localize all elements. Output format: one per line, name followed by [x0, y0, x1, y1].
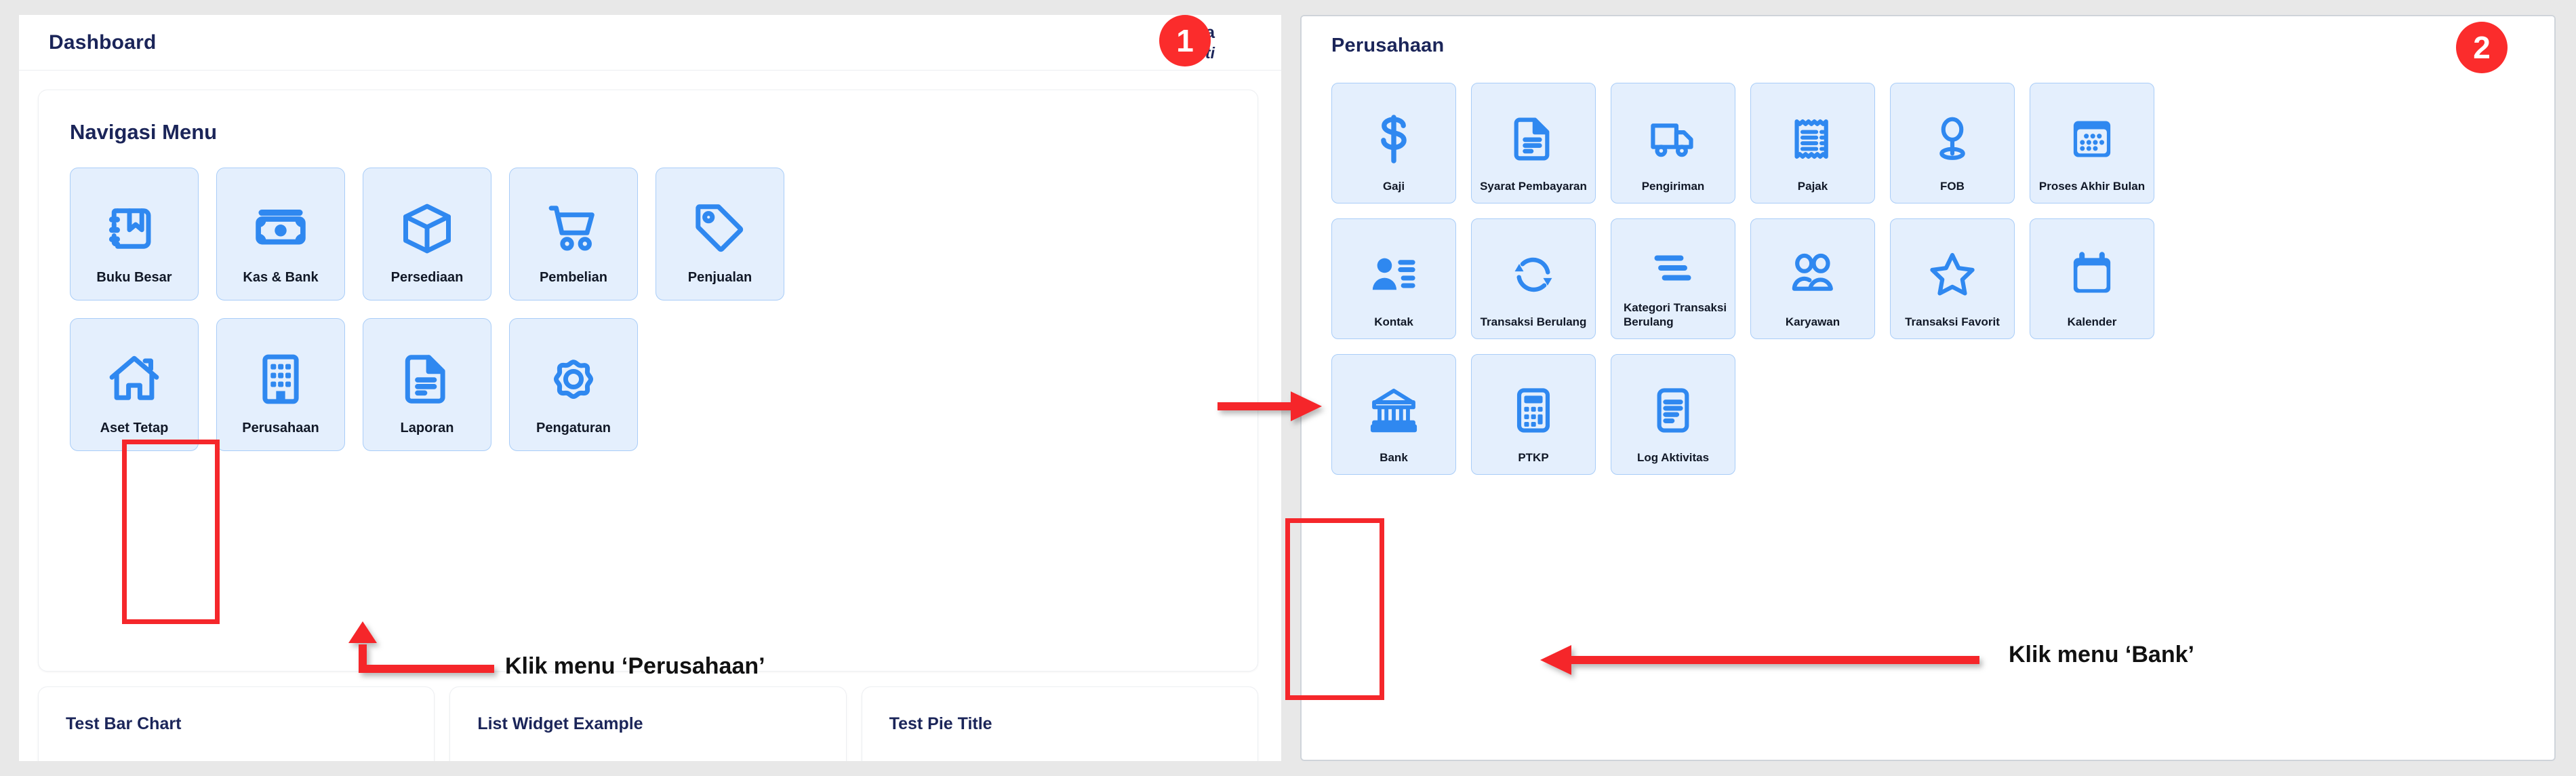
perusahaan-row-1: Gaji Syarat Pembayaran	[1331, 83, 2524, 203]
menu-tile-label: Laporan	[369, 420, 485, 437]
perusahaan-tile-syarat-pembayaran[interactable]: Syarat Pembayaran	[1471, 83, 1596, 203]
gear-icon	[545, 338, 602, 420]
menu-tile-label: Kas & Bank	[222, 269, 339, 286]
perusahaan-tile-label: Transaksi Berulang	[1476, 315, 1591, 329]
perusahaan-tile-label: FOB	[1895, 179, 2010, 193]
widget-bar-chart: Test Bar Chart	[38, 686, 435, 761]
dashboard-header: Dashboard Indra Testi	[19, 15, 1281, 71]
document-report-icon	[399, 338, 456, 420]
menu-tile-buku-besar[interactable]: Buku Besar	[70, 168, 199, 300]
perusahaan-tile-label: PTKP	[1476, 450, 1591, 465]
perusahaan-tile-label: Bank	[1336, 450, 1451, 465]
step-badge-2: 2	[2456, 22, 2508, 73]
calendar-dots-icon	[2067, 100, 2117, 179]
perusahaan-tile-log-aktivitas[interactable]: Log Aktivitas	[1611, 354, 1735, 475]
perusahaan-tile-kalender[interactable]: Kalender	[2030, 218, 2154, 339]
perusahaan-tile-label: Transaksi Favorit	[1895, 315, 2010, 329]
perusahaan-tile-gaji[interactable]: Gaji	[1331, 83, 1456, 203]
office-building-icon	[252, 338, 309, 420]
users-group-icon	[1788, 235, 1838, 315]
menu-tile-pembelian[interactable]: Pembelian	[509, 168, 638, 300]
perusahaan-tile-proses-akhir-bulan[interactable]: Proses Akhir Bulan	[2030, 83, 2154, 203]
ledger-book-icon	[106, 187, 163, 269]
perusahaan-tile-label: Pengiriman	[1615, 179, 1731, 193]
menu-tile-laporan[interactable]: Laporan	[363, 318, 491, 451]
callout-label-perusahaan: Klik menu ‘Perusahaan’	[505, 653, 765, 680]
perusahaan-tile-ptkp[interactable]: PTKP	[1471, 354, 1596, 475]
menu-tile-penjualan[interactable]: Penjualan	[656, 168, 784, 300]
perusahaan-tile-label: Kontak	[1336, 315, 1451, 329]
menu-tile-pengaturan[interactable]: Pengaturan	[509, 318, 638, 451]
widget-list: List Widget Example	[449, 686, 846, 761]
navigation-menu-heading: Navigasi Menu	[70, 120, 1226, 144]
perusahaan-tile-karyawan[interactable]: Karyawan	[1750, 218, 1875, 339]
calendar-icon	[2067, 235, 2117, 315]
menu-tile-label: Aset Tetap	[76, 420, 193, 437]
perusahaan-tile-kategori-transaksi-berulang[interactable]: Kategori Transaksi Berulang	[1611, 218, 1735, 339]
widget-title: Test Bar Chart	[66, 714, 407, 734]
perusahaan-tile-label: Kategori Transaksi Berulang	[1615, 300, 1731, 330]
activity-log-icon	[1648, 371, 1698, 450]
delivery-truck-icon	[1648, 100, 1698, 179]
dollar-sign-icon	[1369, 100, 1419, 179]
bank-building-icon	[1369, 371, 1419, 450]
list-lines-icon	[1648, 235, 1698, 300]
perusahaan-tile-label: Karyawan	[1755, 315, 1870, 329]
calculator-icon	[1508, 371, 1558, 450]
perusahaan-panel: Perusahaan Gaji	[1300, 15, 2556, 761]
menu-tile-label: Penjualan	[662, 269, 778, 286]
perusahaan-row-2: Kontak Transaksi Berulang	[1331, 218, 2524, 339]
menu-tile-label: Pengaturan	[515, 420, 632, 437]
perusahaan-tile-bank[interactable]: Bank	[1331, 354, 1456, 475]
banknote-icon	[252, 187, 309, 269]
menu-tile-label: Pembelian	[515, 269, 632, 286]
menu-tile-persediaan[interactable]: Persediaan	[363, 168, 491, 300]
perusahaan-tile-transaksi-berulang[interactable]: Transaksi Berulang	[1471, 218, 1596, 339]
perusahaan-tile-label: Gaji	[1336, 179, 1451, 193]
price-tag-icon	[691, 187, 748, 269]
perusahaan-tile-label: Log Aktivitas	[1615, 450, 1731, 465]
refresh-cycle-icon	[1508, 235, 1558, 315]
dashboard-panel: Dashboard Indra Testi Navigasi Menu	[19, 15, 1281, 761]
menu-row-2: Aset Tetap	[70, 318, 1226, 451]
perusahaan-tile-transaksi-favorit[interactable]: Transaksi Favorit	[1890, 218, 2015, 339]
dashboard-widgets: Test Bar Chart List Widget Example Test …	[38, 686, 1258, 761]
perusahaan-tile-label: Proses Akhir Bulan	[2034, 179, 2150, 193]
perusahaan-tile-pengiriman[interactable]: Pengiriman	[1611, 83, 1735, 203]
cube-box-icon	[399, 187, 456, 269]
widget-pie-chart: Test Pie Title	[862, 686, 1258, 761]
page-title: Dashboard	[49, 31, 157, 54]
page-title: Perusahaan	[1331, 32, 1444, 57]
perusahaan-tile-pajak[interactable]: Pajak	[1750, 83, 1875, 203]
menu-tile-kas-bank[interactable]: Kas & Bank	[216, 168, 345, 300]
perusahaan-tile-label: Syarat Pembayaran	[1476, 179, 1591, 193]
screenshot-stage: Dashboard Indra Testi Navigasi Menu	[0, 0, 2576, 776]
perusahaan-tile-fob[interactable]: FOB	[1890, 83, 2015, 203]
perusahaan-tile-label: Kalender	[2034, 315, 2150, 329]
navigation-menu-card: Navigasi Menu Buku Besar	[38, 90, 1258, 672]
menu-tile-aset-tetap[interactable]: Aset Tetap	[70, 318, 199, 451]
shopping-cart-icon	[545, 187, 602, 269]
house-icon	[106, 338, 163, 420]
perusahaan-row-3: Bank	[1331, 354, 2524, 475]
menu-row-1: Buku Besar Kas & Bank	[70, 168, 1226, 300]
map-pin-icon	[1927, 100, 1977, 179]
widget-title: Test Pie Title	[889, 714, 1230, 734]
menu-tile-label: Perusahaan	[222, 420, 339, 437]
perusahaan-menu-grid: Gaji Syarat Pembayaran	[1302, 72, 2554, 475]
callout-label-bank: Klik menu ‘Bank’	[2009, 642, 2194, 668]
contact-card-icon	[1369, 235, 1419, 315]
document-report-icon	[1508, 100, 1558, 179]
perusahaan-tile-label: Pajak	[1755, 179, 1870, 193]
perusahaan-header: Perusahaan	[1302, 16, 2554, 72]
menu-tile-perusahaan[interactable]: Perusahaan	[216, 318, 345, 451]
menu-tile-label: Buku Besar	[76, 269, 193, 286]
receipt-icon	[1788, 100, 1838, 179]
star-icon	[1927, 235, 1977, 315]
perusahaan-tile-kontak[interactable]: Kontak	[1331, 218, 1456, 339]
step-badge-1: 1	[1159, 15, 1211, 66]
widget-title: List Widget Example	[477, 714, 818, 734]
menu-tile-label: Persediaan	[369, 269, 485, 286]
